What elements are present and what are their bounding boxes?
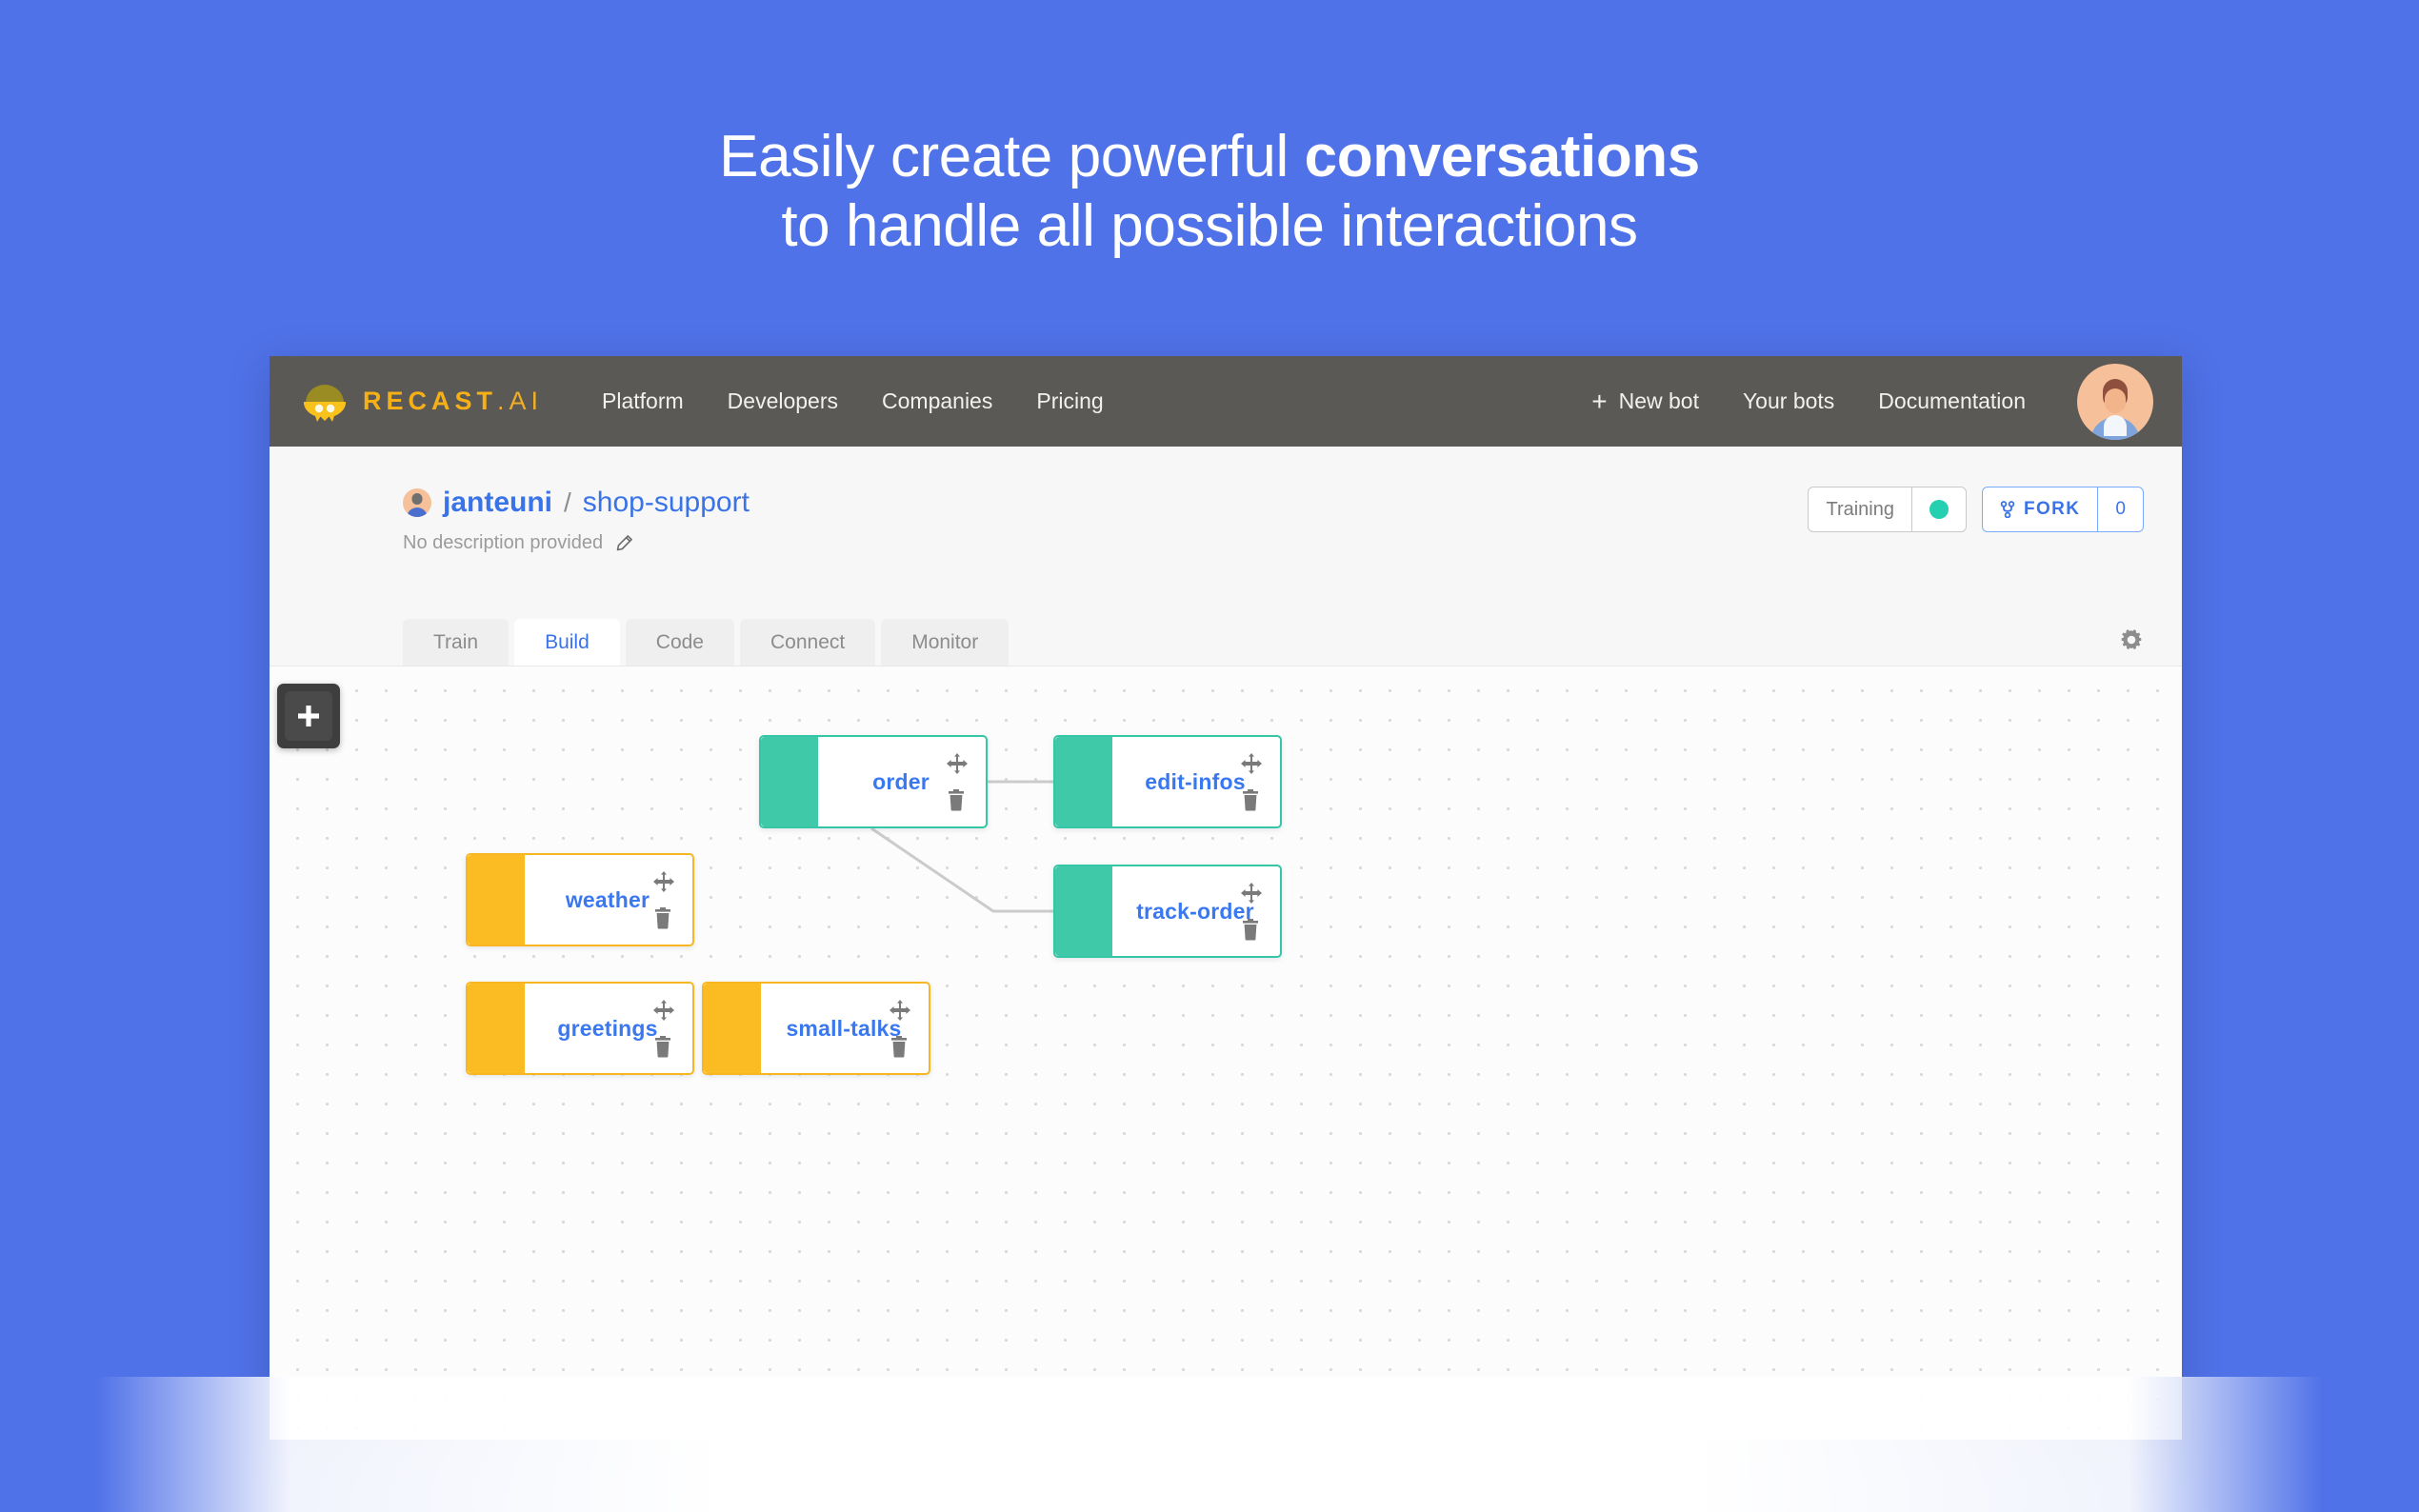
brand-name: RECAST: [363, 387, 497, 415]
bottom-gradient-fade: [0, 1377, 2419, 1512]
avatar-collar: [2104, 415, 2127, 436]
tab-connect[interactable]: Connect: [740, 619, 875, 666]
trash-icon[interactable]: [653, 1035, 672, 1058]
flow-node-greetings[interactable]: greetings: [466, 982, 694, 1075]
trash-icon[interactable]: [653, 906, 672, 929]
tab-code[interactable]: Code: [626, 619, 734, 666]
flow-node-order[interactable]: order: [759, 735, 988, 828]
bot-tab-bar: Train Build Code Connect Monitor: [270, 604, 2182, 666]
new-bot-label: New bot: [1619, 388, 1699, 414]
tab-monitor[interactable]: Monitor: [881, 619, 1009, 666]
brand-logo[interactable]: RECAST.AI: [300, 380, 543, 424]
node-body: greetings: [525, 984, 692, 1073]
gear-icon: [2119, 627, 2144, 652]
node-label: track-order: [1136, 899, 1254, 925]
node-body: weather: [525, 855, 692, 945]
move-arrows-icon[interactable]: [890, 1000, 910, 1021]
breadcrumb-owner[interactable]: janteuni: [443, 487, 552, 519]
bot-description: No description provided: [403, 532, 603, 554]
brand-suffix: .AI: [497, 387, 543, 415]
node-color-stripe: [1055, 866, 1112, 956]
node-label: small-talks: [786, 1016, 901, 1042]
fork-count: 0: [2097, 487, 2143, 531]
avatar-face: [2105, 388, 2126, 413]
flow-node-edit-infos[interactable]: edit-infos: [1053, 735, 1282, 828]
node-label: order: [872, 769, 930, 795]
bot-description-row: No description provided: [403, 532, 2144, 554]
nav-link-your-bots[interactable]: Your bots: [1743, 388, 1834, 414]
trash-icon[interactable]: [890, 1035, 909, 1058]
node-color-stripe: [761, 737, 818, 826]
training-label: Training: [1809, 487, 1911, 531]
primary-nav-links: Platform Developers Companies Pricing: [602, 388, 1104, 414]
node-body: small-talks: [761, 984, 929, 1073]
node-color-stripe: [468, 984, 525, 1073]
secondary-nav-links: + New bot Your bots Documentation: [1591, 364, 2182, 440]
breadcrumb-separator: /: [564, 487, 571, 518]
top-navigation-bar: RECAST.AI Platform Developers Companies …: [270, 356, 2182, 447]
headline-line1-prefix: Easily create powerful: [719, 124, 1305, 189]
fork-button[interactable]: FORK: [1983, 487, 2097, 531]
headline-line2: to handle all possible interactions: [0, 191, 2419, 261]
node-body: order: [818, 737, 986, 826]
node-label: edit-infos: [1145, 769, 1246, 795]
header-badges: Training FORK: [1808, 487, 2144, 532]
move-arrows-icon[interactable]: [947, 753, 968, 774]
tab-build[interactable]: Build: [514, 619, 620, 666]
recast-robot-icon: [300, 380, 350, 424]
trash-icon[interactable]: [947, 788, 966, 811]
node-color-stripe: [468, 855, 525, 945]
fork-label: FORK: [2024, 499, 2080, 520]
flow-node-small-talks[interactable]: small-talks: [702, 982, 930, 1075]
nav-link-companies[interactable]: Companies: [882, 388, 992, 414]
breadcrumb-bot-name[interactable]: shop-support: [583, 487, 750, 519]
training-status-badge[interactable]: Training: [1808, 487, 1967, 532]
plus-icon: +: [1591, 388, 1607, 415]
trash-icon[interactable]: [1241, 788, 1260, 811]
trash-icon[interactable]: [1241, 918, 1260, 941]
pencil-icon[interactable]: [614, 534, 633, 553]
node-body: track-order: [1112, 866, 1280, 956]
node-color-stripe: [1055, 737, 1112, 826]
headline-line1-strong: conversations: [1305, 124, 1700, 189]
node-label: weather: [566, 887, 650, 913]
tab-train[interactable]: Train: [403, 619, 509, 666]
node-color-stripe: [704, 984, 761, 1073]
status-dot-icon: [1911, 487, 1966, 531]
fork-icon: [2000, 501, 2015, 518]
move-arrows-icon[interactable]: [653, 871, 674, 892]
app-window: RECAST.AI Platform Developers Companies …: [270, 356, 2182, 1440]
nav-link-documentation[interactable]: Documentation: [1878, 388, 2026, 414]
move-arrows-icon[interactable]: [1241, 883, 1262, 904]
nav-link-platform[interactable]: Platform: [602, 388, 684, 414]
fork-badge[interactable]: FORK 0: [1982, 487, 2144, 532]
promo-screenshot: Easily create powerful conversations to …: [0, 0, 2419, 1512]
bot-header: janteuni / shop-support No description p…: [270, 447, 2182, 604]
new-bot-button[interactable]: + New bot: [1591, 388, 1699, 415]
flow-canvas[interactable]: order edit-infos: [270, 666, 2182, 1440]
nav-link-pricing[interactable]: Pricing: [1036, 388, 1103, 414]
move-arrows-icon[interactable]: [1241, 753, 1262, 774]
wire-order-to-track-order: [871, 828, 1053, 911]
owner-avatar-icon: [403, 488, 431, 517]
nav-link-developers[interactable]: Developers: [728, 388, 838, 414]
node-label: greetings: [557, 1016, 657, 1042]
settings-button[interactable]: [2119, 627, 2144, 666]
page-headline: Easily create powerful conversations to …: [0, 122, 2419, 261]
flow-node-track-order[interactable]: track-order: [1053, 865, 1282, 958]
flow-node-weather[interactable]: weather: [466, 853, 694, 946]
move-arrows-icon[interactable]: [653, 1000, 674, 1021]
node-body: edit-infos: [1112, 737, 1280, 826]
user-avatar[interactable]: [2077, 364, 2153, 440]
brand-wordmark: RECAST.AI: [363, 387, 543, 416]
